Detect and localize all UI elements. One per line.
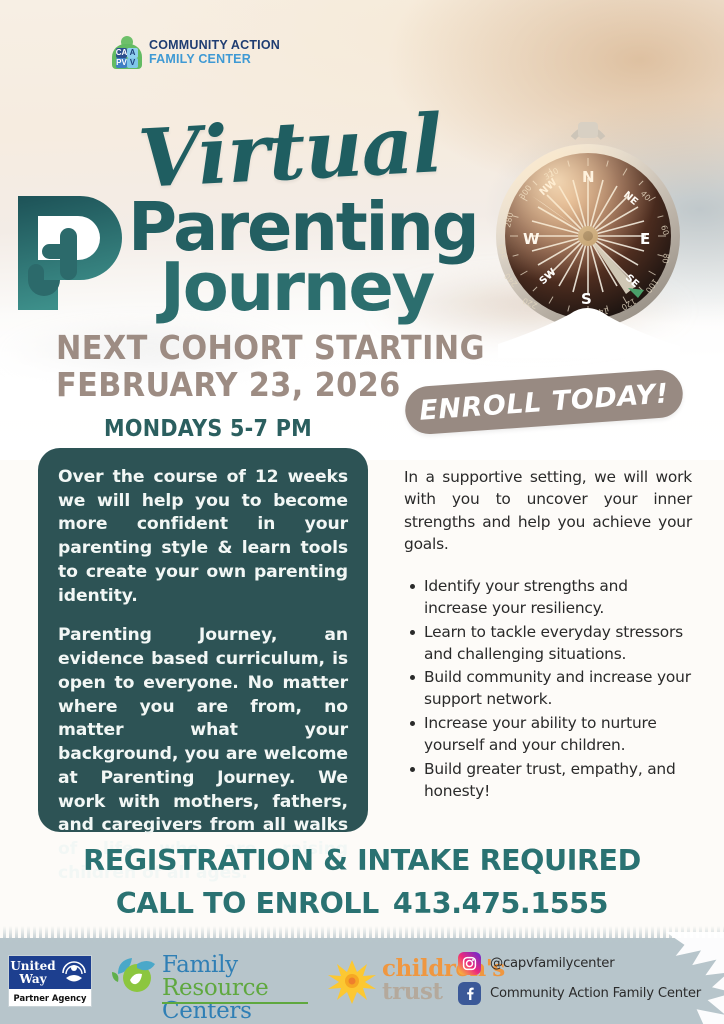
flyer-poster: N W E S NE SW NW SE 40 60 80 100 120 140… (0, 0, 724, 1024)
cohort-line-2: FEBRUARY 23, 2026 (56, 367, 341, 404)
facebook-icon (458, 982, 481, 1005)
monogram-v: V (127, 58, 138, 68)
leaf-hand-icon (110, 950, 160, 1006)
title-journey: Journey (160, 248, 433, 326)
brand-line-2: FAMILY CENTER (149, 53, 280, 67)
sunburst-icon (328, 958, 378, 1004)
cta-call-label: CALL TO ENROLL (116, 887, 379, 920)
childrens-trust-logo: children's trust (328, 958, 458, 1006)
description-box: Over the course of 12 weeks we will help… (38, 448, 368, 832)
enroll-today-label: ENROLL TODAY! (418, 378, 669, 426)
monogram-ca: CA (116, 48, 127, 58)
footer-texture-edge (0, 926, 724, 942)
benefits-intro: In a supportive setting, we will work wi… (404, 466, 692, 556)
cohort-block: NEXT COHORT STARTING FEBRUARY 23, 2026 (56, 330, 366, 404)
united-way-word-2: Way (19, 973, 46, 985)
list-item: Increase your ability to nurture yoursel… (424, 713, 692, 757)
list-item: Learn to tackle everyday stressors and c… (424, 622, 692, 666)
frc-underline (162, 1002, 308, 1004)
instagram-handle: @capvfamilycenter (490, 956, 614, 971)
family-resource-centers-logo: Family Resource Centers (110, 950, 310, 1012)
compass-photo: N W E S NE SW NW SE 40 60 80 100 120 140… (468, 108, 708, 358)
united-way-hand-icon (57, 956, 91, 989)
cohort-schedule: MONDAYS 5-7 PM (104, 416, 312, 442)
social-row-facebook[interactable]: Community Action Family Center (458, 982, 701, 1005)
social-links: @capvfamilycenter Community Action Famil… (458, 952, 701, 1012)
social-row-instagram[interactable]: @capvfamilycenter (458, 952, 701, 975)
call-to-action: REGISTRATION & INTAKE REQUIRED CALL TO E… (0, 840, 724, 926)
benefits-column: In a supportive setting, we will work wi… (404, 466, 692, 805)
brand-line-1: COMMUNITY ACTION (149, 39, 280, 53)
pj-monogram-icon (16, 192, 136, 314)
brand-header: CA A PV V COMMUNITY ACTION FAMILY CENTER (112, 36, 280, 69)
united-way-logo: United Way Partner Agency (8, 955, 92, 1007)
description-paragraph-1: Over the course of 12 weeks we will help… (58, 466, 348, 608)
cohort-line-1: NEXT COHORT STARTING (56, 330, 341, 367)
cta-line-2: CALL TO ENROLL413.475.1555 (0, 883, 724, 926)
united-way-word-1: United (10, 960, 55, 972)
list-item: Identify your strengths and increase you… (424, 576, 692, 620)
monogram-a: A (127, 48, 138, 58)
cta-line-1: REGISTRATION & INTAKE REQUIRED (0, 840, 724, 883)
list-item: Build community and increase your suppor… (424, 667, 692, 711)
instagram-icon (458, 952, 481, 975)
monogram-pv: PV (116, 58, 127, 68)
frc-line-1: Family (162, 954, 310, 977)
list-item: Build greater trust, empathy, and honest… (424, 759, 692, 803)
facebook-page-name: Community Action Family Center (490, 986, 701, 1001)
united-way-tagline: Partner Agency (9, 989, 91, 1006)
capv-house-person-icon: CA A PV V (112, 36, 142, 69)
benefits-list: Identify your strengths and increase you… (404, 576, 692, 803)
cta-phone-number[interactable]: 413.475.1555 (393, 887, 608, 920)
